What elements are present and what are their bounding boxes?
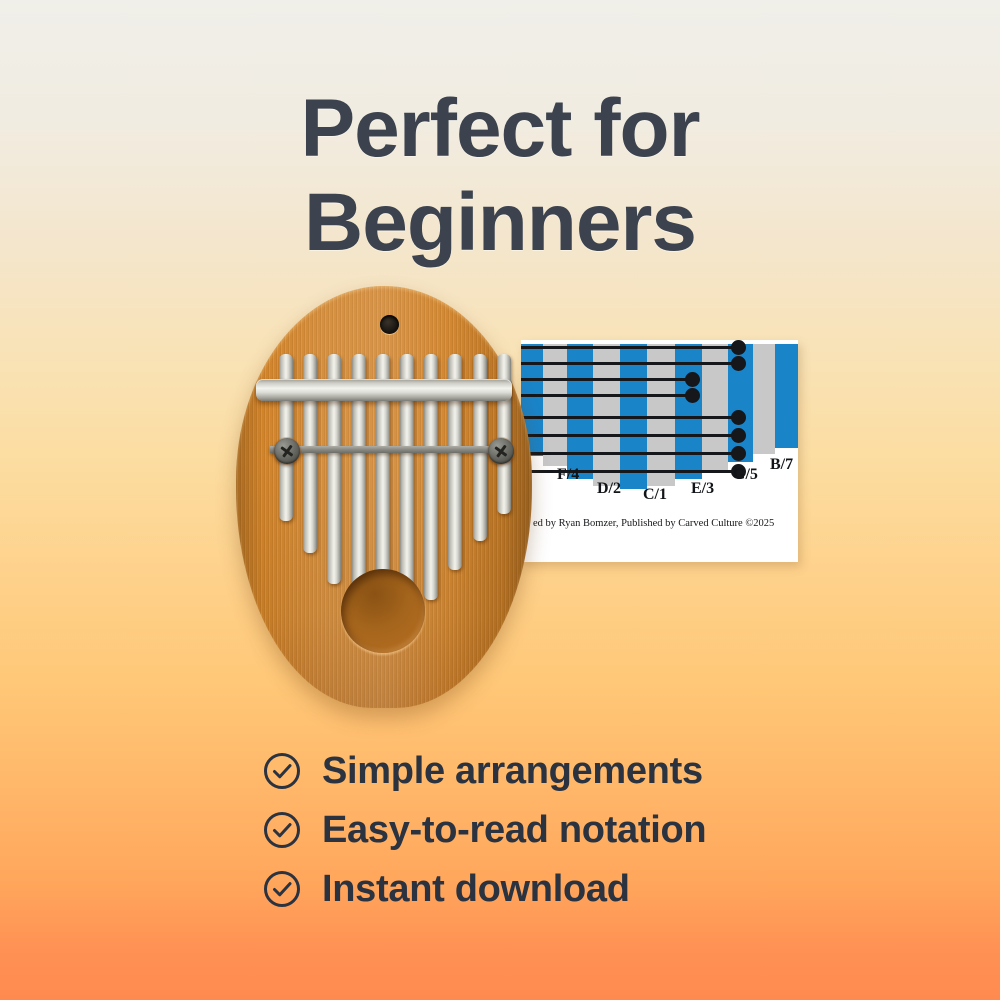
- kalimba-lower-bridge: [270, 446, 498, 453]
- kalimba-illustration: [236, 286, 532, 708]
- tablature-note-dot: [731, 410, 746, 425]
- kalimba-sound-hole: [341, 569, 425, 653]
- tablature-note-label: D/2: [597, 480, 621, 498]
- tablature-card: F/4D/2C/1E/3G/5B/7 ed by Ryan Bomzer, Pu…: [521, 340, 798, 562]
- kalimba-tine: [497, 354, 511, 514]
- feature-label: Instant download: [322, 868, 630, 910]
- tablature-note-label: G/5: [733, 466, 758, 484]
- tablature-note-dot: [731, 340, 746, 355]
- tablature-note-label: F/4: [557, 466, 579, 484]
- tablature-note-dot: [685, 388, 700, 403]
- feature-item: Easy-to-read notation: [262, 809, 706, 851]
- feature-list: Simple arrangementsEasy-to-read notation…: [262, 750, 706, 910]
- tablature-note-dot: [731, 446, 746, 461]
- feature-item: Simple arrangements: [262, 750, 706, 792]
- kalimba-screw-left: [274, 438, 300, 464]
- circle-check-icon: [262, 751, 302, 791]
- circle-check-icon: [262, 869, 302, 909]
- circle-check-icon: [262, 810, 302, 850]
- tablature-credit: ed by Ryan Bomzer, Published by Carved C…: [533, 518, 774, 529]
- headline-line-1: Perfect for: [0, 82, 1000, 176]
- feature-item: Instant download: [262, 868, 706, 910]
- tablature-note-line: [521, 378, 691, 381]
- tablature-note-line: [521, 452, 737, 455]
- tablature-note-lines: [521, 344, 798, 476]
- tablature-note-label: E/3: [691, 480, 714, 498]
- kalimba-screw-right: [488, 438, 514, 464]
- kalimba-tuning-hole: [380, 315, 399, 334]
- tablature-note-line: [521, 394, 691, 397]
- tablature-note-line: [521, 434, 737, 437]
- tablature-note-dot: [685, 372, 700, 387]
- feature-label: Simple arrangements: [322, 750, 703, 792]
- headline-line-2: Beginners: [0, 176, 1000, 270]
- tablature-note-dot: [731, 428, 746, 443]
- kalimba-bridge-bar: [256, 379, 512, 401]
- page-title: Perfect for Beginners: [0, 82, 1000, 270]
- tablature-note-label: C/1: [643, 486, 667, 504]
- tablature-note-label: B/7: [770, 456, 793, 474]
- tablature-note-line: [521, 470, 737, 473]
- tablature-note-line: [521, 346, 737, 349]
- tablature-note-dot: [731, 356, 746, 371]
- feature-label: Easy-to-read notation: [322, 809, 706, 851]
- tablature-note-line: [521, 362, 737, 365]
- tablature-note-line: [521, 416, 737, 419]
